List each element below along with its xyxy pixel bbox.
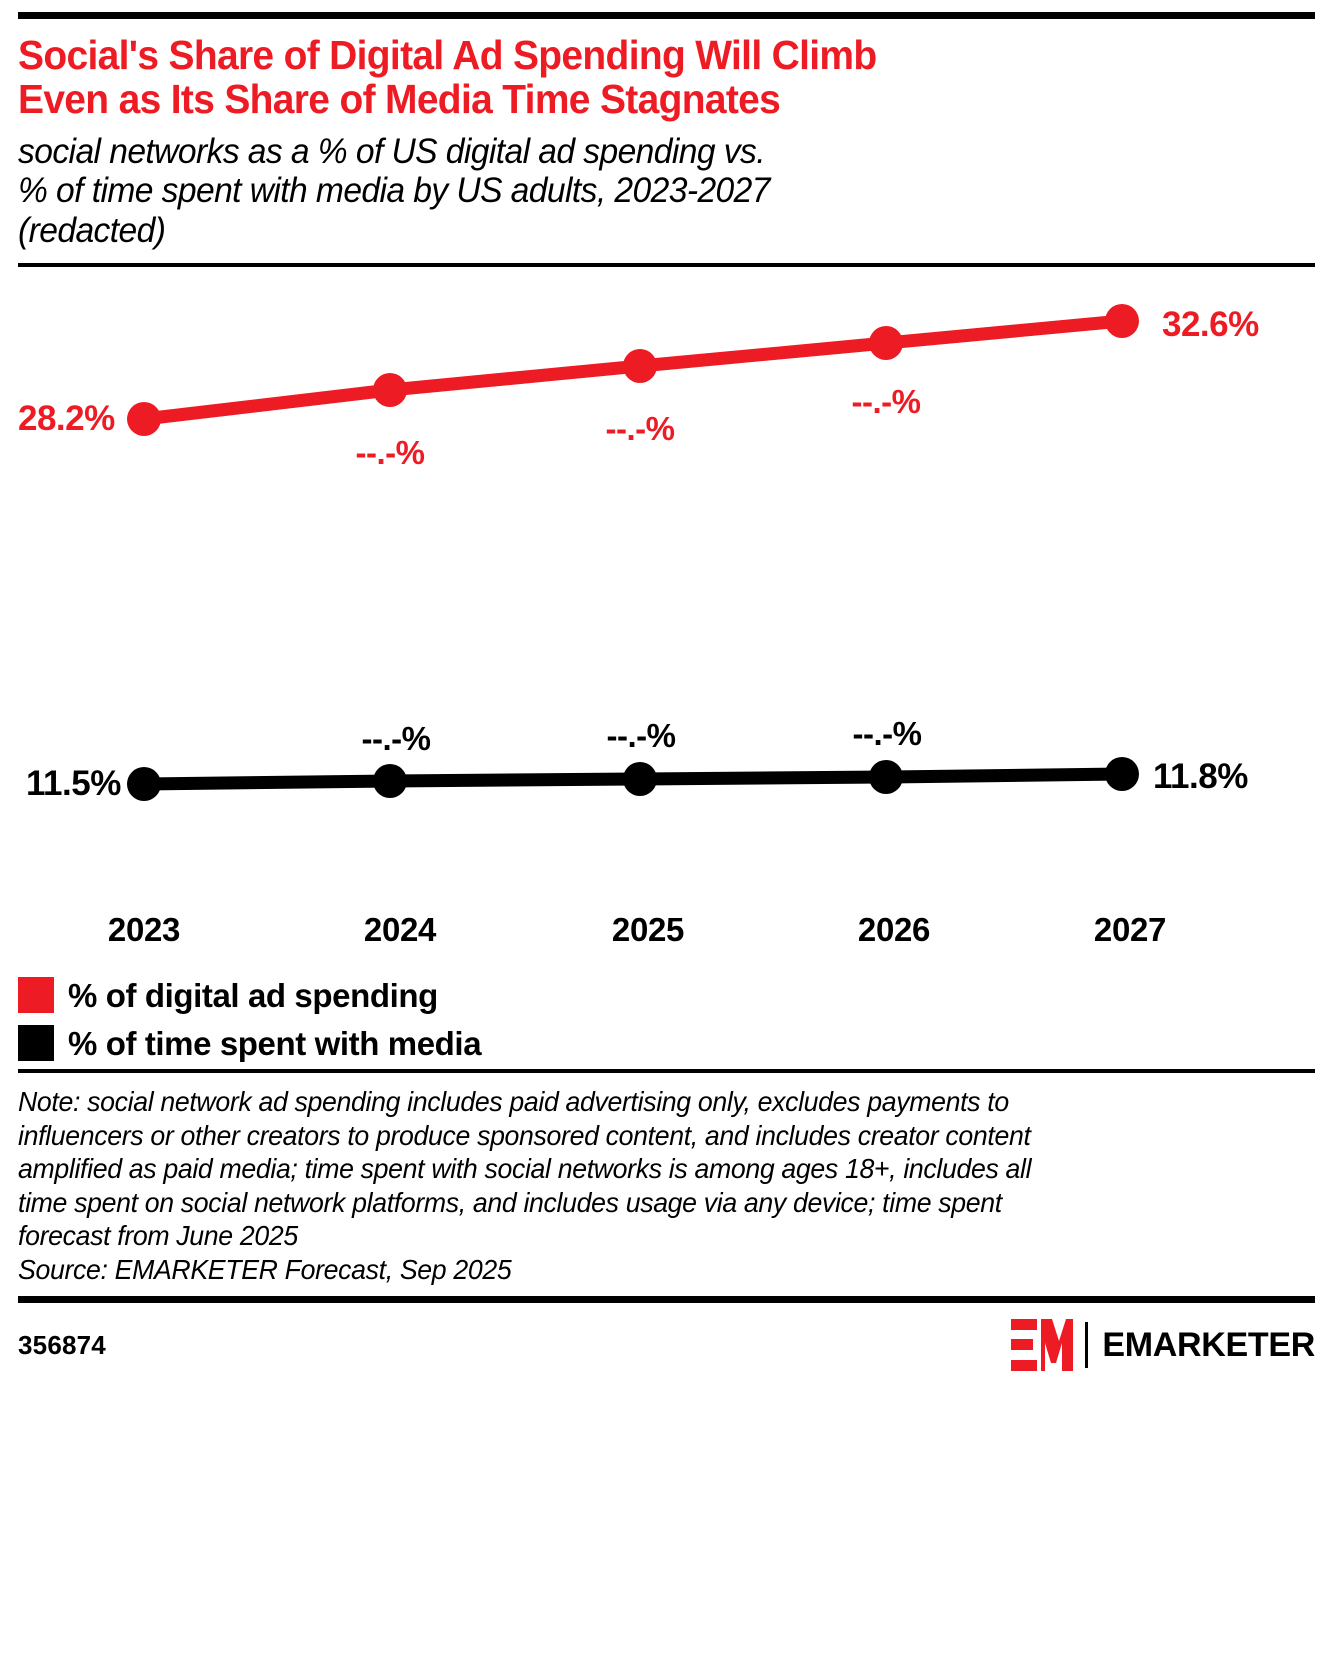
- series-point-digital-ad-spending: [623, 349, 657, 383]
- page-title: Social's Share of Digital Ad Spending Wi…: [18, 33, 1250, 122]
- x-tick-2026: 2026: [858, 911, 930, 949]
- header-divider-rule: [18, 263, 1315, 267]
- series-point-digital-ad-spending: [869, 326, 903, 360]
- data-label-time-spent-2024: --.-%: [362, 720, 431, 758]
- brand-lockup: EMARKETER: [1011, 1319, 1315, 1371]
- data-label-digital-ad-spending-2024: --.-%: [356, 434, 425, 472]
- em-logo-icon: [1011, 1319, 1073, 1371]
- page-footer: 356874 EMARKETER: [18, 1319, 1315, 1371]
- x-tick-2025: 2025: [612, 911, 684, 949]
- brand-name: EMARKETER: [1102, 1326, 1315, 1365]
- legend-item-time-spent-with-media: % of time spent with media: [18, 1021, 1315, 1065]
- x-tick-2027: 2027: [1094, 911, 1166, 949]
- chart-source: Source: EMARKETER Forecast, Sep 2025: [18, 1253, 1276, 1297]
- notes-divider-rule: [18, 1069, 1315, 1073]
- data-label-digital-ad-spending-2023: 28.2%: [18, 399, 115, 439]
- series-point-time-spent-with-media: [623, 762, 657, 796]
- footer-divider-rule: [18, 1296, 1315, 1303]
- legend-swatch-black-icon: [18, 1025, 54, 1061]
- series-point-digital-ad-spending: [373, 373, 407, 407]
- data-label-time-spent-2025: --.-%: [607, 717, 676, 755]
- chart-plot-area: [18, 271, 1315, 971]
- data-label-time-spent-2023: 11.5%: [26, 764, 121, 804]
- series-point-time-spent-with-media: [373, 764, 407, 798]
- top-rule: [18, 12, 1315, 19]
- series-point-digital-ad-spending: [1105, 304, 1139, 338]
- line-chart: 28.2% --.-% --.-% --.-% 32.6% 11.5% --.-…: [18, 271, 1315, 971]
- data-label-digital-ad-spending-2026: --.-%: [852, 383, 921, 421]
- data-label-digital-ad-spending-2025: --.-%: [606, 410, 675, 448]
- series-point-time-spent-with-media: [869, 760, 903, 794]
- x-tick-2023: 2023: [108, 911, 180, 949]
- legend-label-time-spent-with-media: % of time spent with media: [68, 1027, 481, 1060]
- chart-page: Social's Share of Digital Ad Spending Wi…: [0, 12, 1333, 1665]
- chart-legend: % of digital ad spending % of time spent…: [18, 973, 1315, 1065]
- data-label-time-spent-2027: 11.8%: [1153, 757, 1248, 797]
- legend-label-digital-ad-spending: % of digital ad spending: [68, 979, 438, 1012]
- chart-id: 356874: [18, 1330, 106, 1361]
- data-label-time-spent-2026: --.-%: [853, 715, 922, 753]
- series-point-time-spent-with-media: [1105, 757, 1139, 791]
- data-label-digital-ad-spending-2027: 32.6%: [1162, 305, 1259, 345]
- brand-divider: [1085, 1322, 1088, 1368]
- x-axis: 2023 2024 2025 2026 2027: [18, 911, 1315, 961]
- legend-swatch-red-icon: [18, 977, 54, 1013]
- legend-item-digital-ad-spending: % of digital ad spending: [18, 973, 1315, 1017]
- page-subtitle: social networks as a % of US digital ad …: [18, 132, 1263, 264]
- chart-note: Note: social network ad spending include…: [18, 1085, 1276, 1253]
- series-point-time-spent-with-media: [127, 767, 161, 801]
- series-point-digital-ad-spending: [127, 402, 161, 436]
- x-tick-2024: 2024: [364, 911, 436, 949]
